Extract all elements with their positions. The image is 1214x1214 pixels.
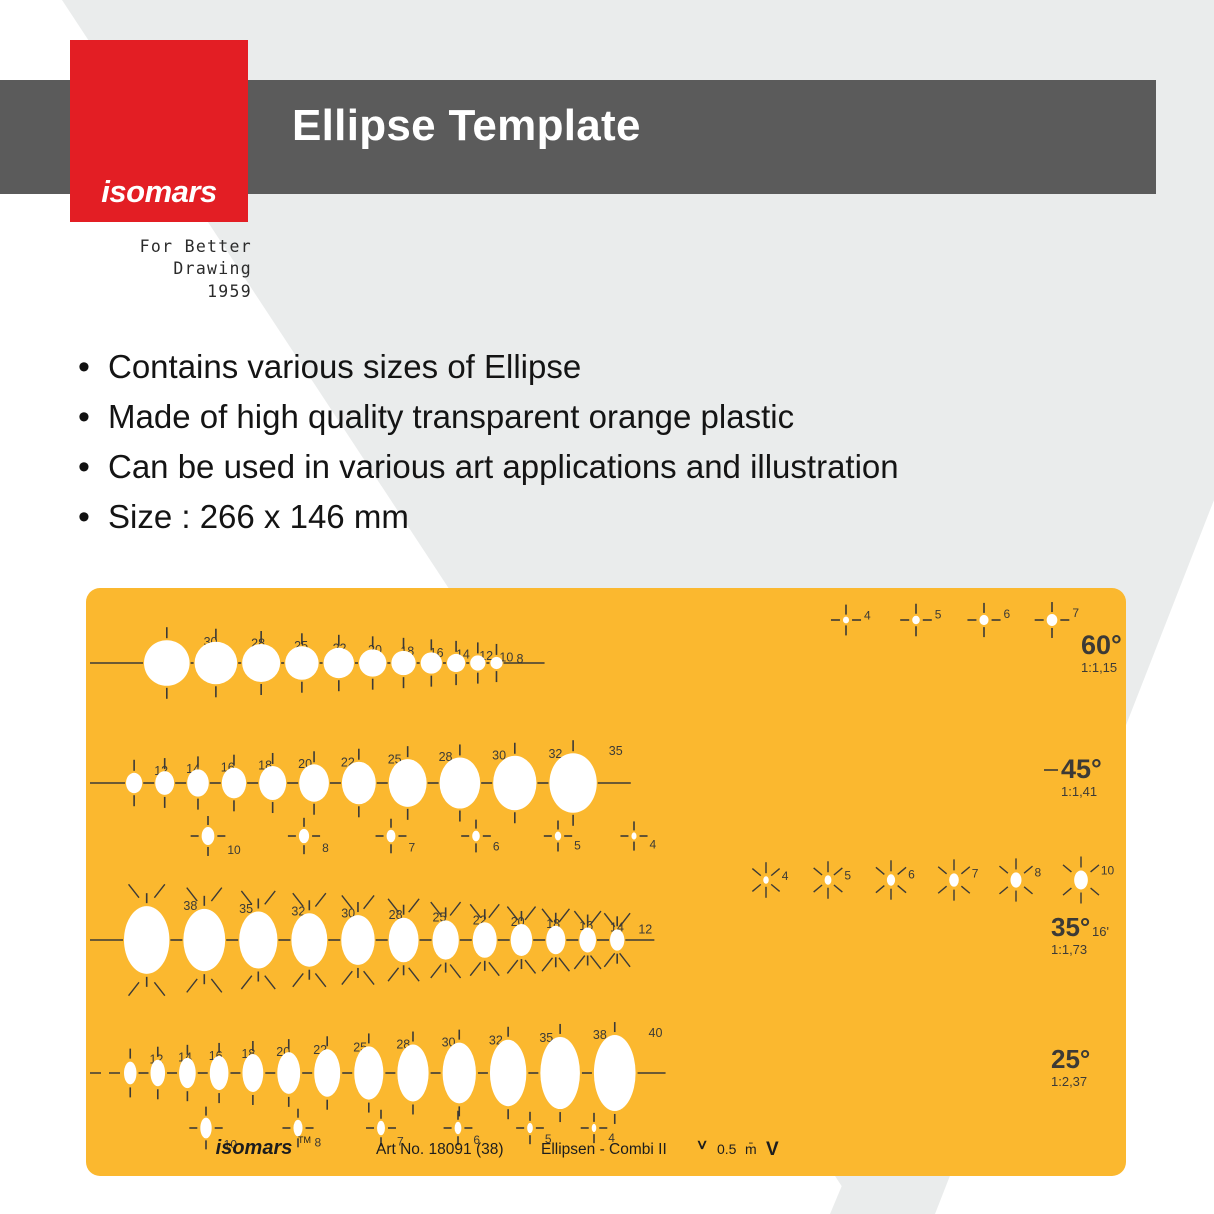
ellipse-hole-25-12 xyxy=(124,1062,136,1085)
ellipse-hole-45-20 xyxy=(259,766,286,800)
ellipse-hole-25-small-7 xyxy=(377,1121,385,1136)
pen-width-symbol-right-icon: V xyxy=(766,1139,779,1160)
hole-size-label: 1:1,73 xyxy=(1051,942,1087,957)
brand-logo-text: isomars xyxy=(70,174,248,210)
bullet-icon: • xyxy=(78,500,108,534)
hole-size-label: 5 xyxy=(935,608,942,622)
hole-size-label: 5 xyxy=(574,838,581,852)
hole-size-label: 12 xyxy=(638,922,652,936)
ellipse-hole-35-32 xyxy=(239,912,277,969)
ellipse-hole-45-32 xyxy=(493,756,536,810)
ellipse-hole-45-small-10 xyxy=(202,827,215,845)
ellipse-hole-35-12 xyxy=(610,929,624,950)
ellipse-hole-25-16 xyxy=(179,1058,196,1088)
ellipse-hole-60-small-4 xyxy=(843,617,849,624)
ellipse-hole-35-16 xyxy=(546,926,565,954)
brand-tagline-text: For Better Drawing xyxy=(140,237,252,278)
ellipse-hole-25-small-4 xyxy=(592,1124,597,1132)
hole-size-label: 45° xyxy=(1061,754,1102,784)
ellipse-hole-35-small-5 xyxy=(825,875,832,884)
footer-trademark: TM xyxy=(298,1135,311,1145)
ellipse-hole-60-25 xyxy=(242,644,280,682)
ellipse-hole-45-12 xyxy=(126,773,142,793)
ellipse-hole-60-small-5 xyxy=(912,616,920,625)
ellipse-hole-45-14 xyxy=(155,771,174,795)
ellipse-hole-35-35 xyxy=(183,909,225,971)
ellipse-hole-35-30 xyxy=(291,913,327,966)
list-item: • Can be used in various art application… xyxy=(78,448,1138,487)
hole-size-label: 4 xyxy=(650,838,657,852)
hole-size-label: 25° xyxy=(1051,1044,1090,1074)
hole-size-label: 7 xyxy=(972,866,979,880)
ellipse-hole-25-30 xyxy=(397,1045,428,1102)
footer-art-number: Art No. 18091 (38) xyxy=(376,1141,504,1158)
ellipse-hole-35-22 xyxy=(433,920,459,959)
feature-list: • Contains various sizes of Ellipse • Ma… xyxy=(78,348,1138,548)
ellipse-hole-25-35 xyxy=(490,1040,526,1106)
ellipse-hole-45-16 xyxy=(187,769,209,796)
ellipse-hole-35-38 xyxy=(124,906,169,974)
list-item: • Contains various sizes of Ellipse xyxy=(78,348,1138,387)
hole-size-label: 1:2,37 xyxy=(1051,1074,1087,1089)
ellipse-hole-25-small-6 xyxy=(455,1122,462,1134)
ellipse-hole-60-small-7 xyxy=(1047,614,1058,626)
bullet-icon: • xyxy=(78,350,108,384)
ellipse-hole-45-small-8 xyxy=(299,829,309,843)
footer-product-name: Ellipsen - Combi II xyxy=(541,1141,667,1158)
ellipse-hole-45-18 xyxy=(222,768,246,799)
hole-size-label: 16' xyxy=(1092,924,1109,939)
feature-text: Contains various sizes of Ellipse xyxy=(108,348,581,387)
ellipse-hole-60-30 xyxy=(144,640,190,686)
ellipse-hole-35-20 xyxy=(473,922,497,958)
bullet-icon: • xyxy=(78,450,108,484)
ellipse-hole-25-18 xyxy=(210,1056,229,1090)
ellipse-hole-25-38 xyxy=(540,1037,580,1109)
ellipse-hole-45-28 xyxy=(389,759,427,807)
ellipse-hole-25-40 xyxy=(594,1035,636,1111)
ellipse-hole-60-8 xyxy=(490,657,502,669)
hole-size-label: 8 xyxy=(315,1135,322,1149)
ellipse-hole-35-18 xyxy=(511,924,532,956)
feature-text: Size : 266 x 146 mm xyxy=(108,498,409,537)
ellipse-template-board: 302825222018161412108456760°1:1,15121416… xyxy=(86,588,1126,1176)
ellipse-hole-60-14 xyxy=(421,652,442,673)
ellipse-hole-60-18 xyxy=(359,649,386,676)
ellipse-hole-35-small-10 xyxy=(1074,871,1088,890)
hole-size-label: 7 xyxy=(408,840,415,854)
ellipse-hole-45-small-4 xyxy=(631,832,636,839)
hole-size-label: 35° xyxy=(1051,912,1090,942)
hole-size-label: 6 xyxy=(493,839,500,853)
hole-size-label: 8 xyxy=(1034,865,1041,879)
ellipse-hole-35-14 xyxy=(579,928,596,953)
ellipse-hole-60-28 xyxy=(195,642,238,685)
hole-size-label: 10 xyxy=(1101,864,1115,878)
ellipse-template-svg: 302825222018161412108456760°1:1,15121416… xyxy=(86,588,1126,1176)
ellipse-hole-45-small-5 xyxy=(555,832,561,841)
hole-size-label: 38 xyxy=(183,899,197,913)
footer-pen-thickness: 0.5 xyxy=(717,1141,737,1157)
hole-size-label: 5 xyxy=(844,868,851,882)
hole-size-label: 10 xyxy=(227,843,241,857)
ellipse-hole-45-small-7 xyxy=(387,830,396,843)
hole-size-label: 8 xyxy=(322,841,329,855)
ellipse-hole-45-30 xyxy=(440,757,481,808)
brand-year: 1959 xyxy=(66,281,252,303)
ellipse-hole-35-small-7 xyxy=(949,873,959,886)
ellipse-hole-25-small-8 xyxy=(293,1120,302,1137)
product-infographic: Ellipse Template isomars For Better Draw… xyxy=(0,0,1214,1214)
ellipse-hole-25-25 xyxy=(314,1049,340,1096)
hole-size-label: 6 xyxy=(1004,607,1011,621)
ellipse-hole-60-small-6 xyxy=(979,615,988,625)
ellipse-hole-45-25 xyxy=(342,762,376,805)
bullet-icon: • xyxy=(78,400,108,434)
ellipse-hole-25-28 xyxy=(354,1046,383,1099)
footer-brand: isomars xyxy=(216,1137,293,1159)
hole-size-label: 1:1,41 xyxy=(1061,784,1097,799)
ellipse-hole-60-22 xyxy=(285,646,318,679)
ellipse-hole-35-28 xyxy=(341,915,374,965)
brand-tagline: For Better Drawing 1959 xyxy=(66,236,252,303)
ellipse-hole-25-small-5 xyxy=(527,1123,533,1133)
hole-size-label: 35 xyxy=(609,744,623,758)
ellipse-hole-25-32 xyxy=(443,1043,476,1104)
ellipse-hole-25-14 xyxy=(150,1060,165,1087)
ellipse-hole-35-small-4 xyxy=(763,876,768,884)
ellipse-hole-25-20 xyxy=(242,1054,263,1092)
pen-width-symbol-left-icon: ⱽ xyxy=(697,1139,707,1160)
hole-size-label: 7 xyxy=(1072,606,1079,620)
footer-pen-unit: m̄ xyxy=(745,1141,757,1157)
ellipse-hole-25-small-10 xyxy=(200,1118,211,1139)
ellipse-hole-45-35 xyxy=(549,753,596,813)
hole-size-label: 4 xyxy=(864,609,871,623)
ellipse-hole-60-16 xyxy=(391,651,415,675)
list-item: • Size : 266 x 146 mm xyxy=(78,498,1138,537)
feature-text: Can be used in various art applications … xyxy=(108,448,899,487)
hole-size-label: 40 xyxy=(649,1026,663,1040)
list-item: • Made of high quality transparent orang… xyxy=(78,398,1138,437)
hole-size-label: 1:1,15 xyxy=(1081,660,1117,675)
ellipse-hole-60-10 xyxy=(470,655,485,670)
page-title: Ellipse Template xyxy=(292,101,641,151)
brand-logo: isomars xyxy=(70,40,248,222)
hole-size-label: 4 xyxy=(782,869,789,883)
ellipse-hole-25-22 xyxy=(277,1052,300,1094)
hole-size-label: 6 xyxy=(908,867,915,881)
ellipse-hole-60-20 xyxy=(324,648,354,678)
ellipse-hole-60-12 xyxy=(447,654,465,672)
hole-size-label: 8 xyxy=(517,652,524,666)
feature-text: Made of high quality transparent orange … xyxy=(108,398,794,437)
ellipse-hole-35-25 xyxy=(389,918,419,963)
ellipse-hole-35-small-6 xyxy=(887,874,895,885)
ellipse-hole-45-small-6 xyxy=(472,831,480,842)
hole-size-label: 60° xyxy=(1081,630,1122,660)
ellipse-hole-35-small-8 xyxy=(1011,872,1022,887)
ellipse-hole-45-22 xyxy=(299,764,329,801)
